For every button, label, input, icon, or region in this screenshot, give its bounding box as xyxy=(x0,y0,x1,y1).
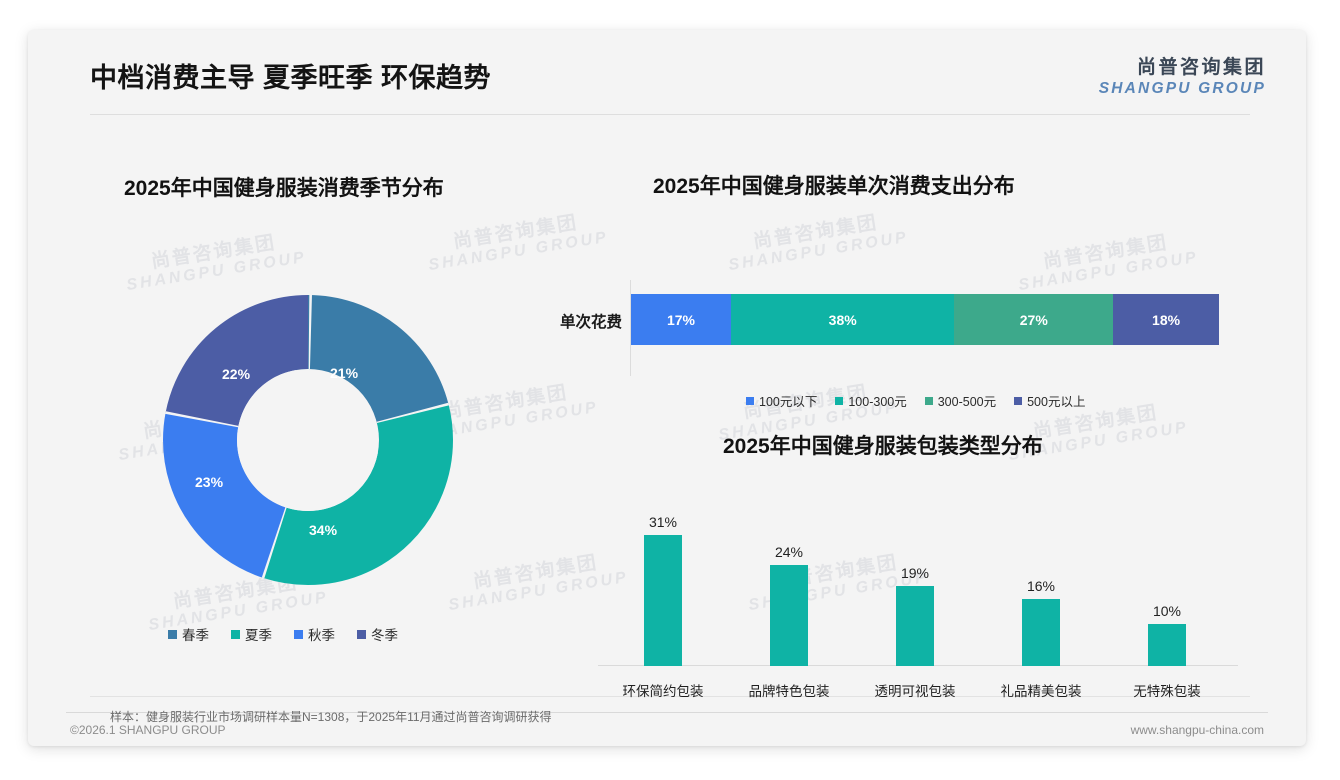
column-value-label: 16% xyxy=(978,578,1104,594)
column-chart-title: 2025年中国健身服装包装类型分布 xyxy=(723,430,1043,460)
stack-segment-label: 17% xyxy=(667,312,695,328)
donut-label-autumn: 23% xyxy=(195,474,223,490)
footer-website[interactable]: www.shangpu-china.com xyxy=(1131,723,1264,737)
stack-segment-100-300[interactable]: 38% xyxy=(731,294,954,345)
legend-swatch-icon xyxy=(1014,397,1022,405)
column-item[interactable]: 31% xyxy=(600,514,726,666)
footer-copyright: ©2026.1 SHANGPU GROUP xyxy=(70,723,226,737)
column-category-label: 透明可视包装 xyxy=(852,680,978,700)
column-chart: 31% 环保简约包装 24% 品牌特色包装 19% 透明可视包装 16% 礼品精… xyxy=(588,500,1248,710)
column-value-label: 10% xyxy=(1104,603,1230,619)
legend-swatch-icon xyxy=(294,630,303,639)
legend-label: 100-300元 xyxy=(848,391,906,410)
legend-label: 春季 xyxy=(182,624,209,644)
stack-segment-under-100[interactable]: 17% xyxy=(631,294,731,345)
legend-label: 夏季 xyxy=(245,624,272,644)
column-value-label: 31% xyxy=(600,514,726,530)
column-bar[interactable] xyxy=(1022,599,1060,666)
legend-item-300-500[interactable]: 300-500元 xyxy=(925,391,996,410)
legend-label: 秋季 xyxy=(308,624,335,644)
column-value-label: 19% xyxy=(852,565,978,581)
legend-swatch-icon xyxy=(168,630,177,639)
donut-label-winter: 22% xyxy=(222,366,250,382)
legend-item-winter[interactable]: 冬季 xyxy=(357,624,398,644)
donut-label-summer: 34% xyxy=(309,522,337,538)
column-category-label: 无特殊包装 xyxy=(1104,680,1230,700)
column-category-label: 环保简约包装 xyxy=(600,680,726,700)
watermark-cn: 尚普咨询集团 xyxy=(424,208,607,257)
legend-swatch-icon xyxy=(231,630,240,639)
legend-label: 500元以上 xyxy=(1027,391,1085,410)
column-category-label: 礼品精美包装 xyxy=(978,680,1104,700)
brand-name-en: SHANGPU GROUP xyxy=(1099,80,1266,98)
legend-swatch-icon xyxy=(925,397,933,405)
stack-segment-over-500[interactable]: 18% xyxy=(1113,294,1219,345)
header-divider xyxy=(90,114,1250,115)
donut-chart-svg xyxy=(138,270,478,610)
donut-label-spring: 21% xyxy=(330,365,358,381)
stack-segment-label: 38% xyxy=(829,312,857,328)
donut-chart: 21% 34% 23% 22% xyxy=(88,270,548,660)
legend-swatch-icon xyxy=(357,630,366,639)
donut-chart-legend: 春季 夏季 秋季 冬季 xyxy=(168,624,420,644)
column-bar[interactable] xyxy=(896,586,934,666)
legend-swatch-icon xyxy=(746,397,754,405)
page-title: 中档消费主导 夏季旺季 环保趋势 xyxy=(90,56,491,95)
slide-footer: ©2026.1 SHANGPU GROUP www.shangpu-china.… xyxy=(28,718,1306,746)
legend-swatch-icon xyxy=(835,397,843,405)
brand-logo: 尚普咨询集团 SHANGPU GROUP xyxy=(1099,52,1266,98)
donut-hole xyxy=(237,369,379,511)
stacked-bar-track: 17% 38% 27% 18% xyxy=(631,294,1219,345)
legend-item-summer[interactable]: 夏季 xyxy=(231,624,272,644)
legend-label: 冬季 xyxy=(371,624,398,644)
column-bar[interactable] xyxy=(644,535,682,666)
column-value-label: 24% xyxy=(726,544,852,560)
watermark-cn: 尚普咨询集团 xyxy=(1014,228,1197,277)
legend-item-spring[interactable]: 春季 xyxy=(168,624,209,644)
watermark-en: SHANGPU GROUP xyxy=(727,229,910,275)
column-bar[interactable] xyxy=(1148,624,1186,666)
column-item[interactable]: 19% xyxy=(852,565,978,666)
stack-segment-label: 18% xyxy=(1152,312,1180,328)
stacked-bar-category-label: 单次花费 xyxy=(526,310,622,332)
legend-item-autumn[interactable]: 秋季 xyxy=(294,624,335,644)
slide-canvas: 尚普咨询集团SHANGPU GROUP 尚普咨询集团SHANGPU GROUP … xyxy=(28,30,1306,746)
legend-label: 300-500元 xyxy=(938,391,996,410)
column-item[interactable]: 24% xyxy=(726,544,852,666)
stacked-bar-legend: 100元以下 100-300元 300-500元 500元以上 xyxy=(746,391,1103,410)
column-bar[interactable] xyxy=(770,565,808,666)
watermark-cn: 尚普咨询集团 xyxy=(724,208,907,257)
brand-name-cn: 尚普咨询集团 xyxy=(1099,52,1266,79)
stack-segment-300-500[interactable]: 27% xyxy=(954,294,1113,345)
stacked-bar-chart: 单次花费 17% 38% 27% 18% xyxy=(526,280,1246,390)
legend-item-over-500[interactable]: 500元以上 xyxy=(1014,391,1085,410)
legend-item-100-300[interactable]: 100-300元 xyxy=(835,391,906,410)
legend-item-under-100[interactable]: 100元以下 xyxy=(746,391,817,410)
column-item[interactable]: 10% xyxy=(1104,603,1230,666)
legend-label: 100元以下 xyxy=(759,391,817,410)
stack-segment-label: 27% xyxy=(1020,312,1048,328)
donut-chart-title: 2025年中国健身服装消费季节分布 xyxy=(124,172,444,202)
watermark-en: SHANGPU GROUP xyxy=(427,229,610,275)
column-category-label: 品牌特色包装 xyxy=(726,680,852,700)
slide-header: 中档消费主导 夏季旺季 环保趋势 尚普咨询集团 SHANGPU GROUP xyxy=(28,30,1306,112)
column-item[interactable]: 16% xyxy=(978,578,1104,666)
stacked-bar-title: 2025年中国健身服装单次消费支出分布 xyxy=(653,170,1015,200)
